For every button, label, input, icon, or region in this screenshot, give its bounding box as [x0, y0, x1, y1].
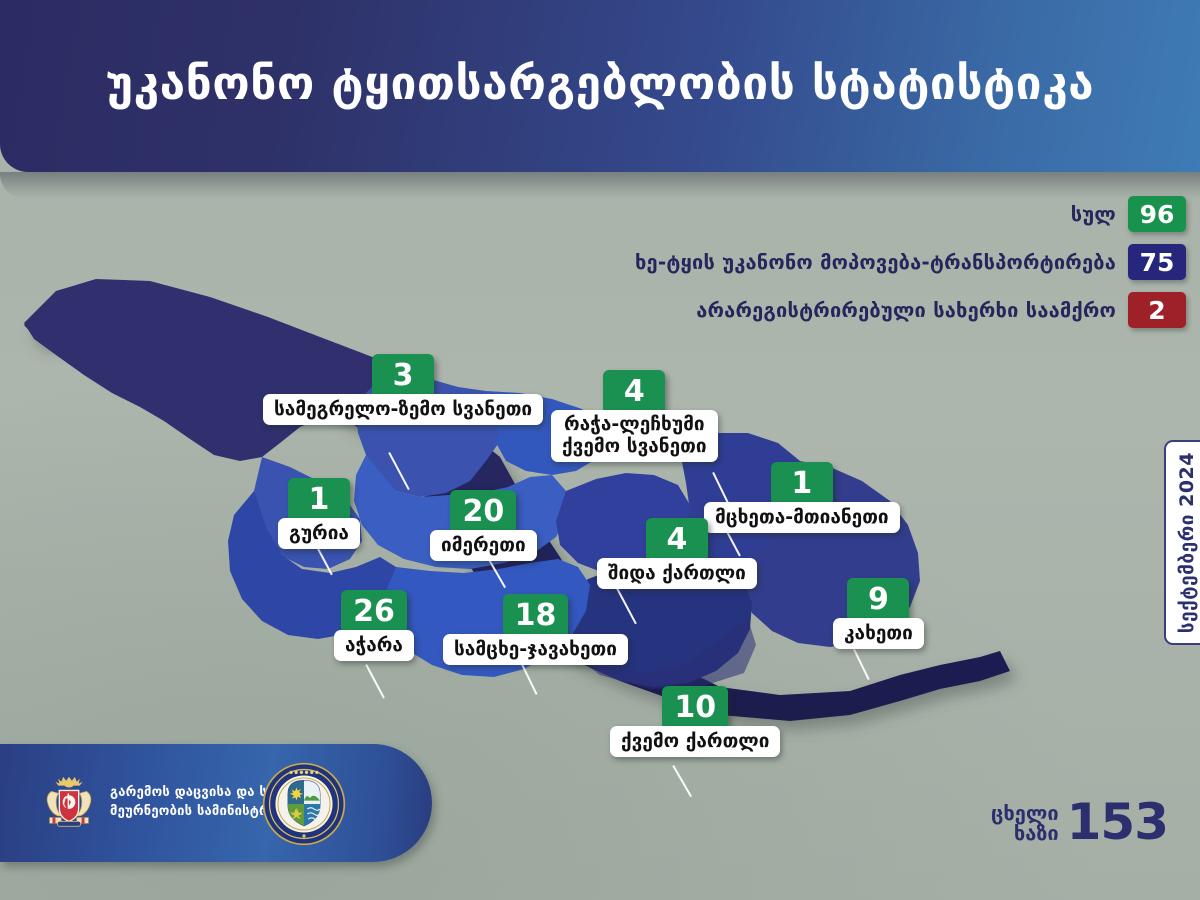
callout-label: შიდა ქართლი — [597, 558, 757, 589]
callout-value: 4 — [646, 518, 708, 562]
hotline-label-line1: ცხელი — [991, 803, 1059, 823]
callout-adjara[interactable]: 26 აჭარა — [334, 590, 414, 661]
georgia-coat-of-arms-icon — [38, 772, 100, 834]
callout-value: 1 — [288, 478, 350, 522]
hotline: ცხელი ხაზი 153 — [991, 800, 1168, 845]
callout-samegrelo-zemo-svaneti[interactable]: 3 სამეგრელო-ზემო სვანეთი — [263, 354, 543, 425]
date-badge-text: სექტემბერი 2024 — [1176, 452, 1198, 633]
date-badge: სექტემბერი 2024 — [1164, 440, 1200, 645]
callout-racha-lechkhumi[interactable]: 4 რაჭა-ლეჩხუმი ქვემო სვანეთი — [551, 370, 718, 462]
legend-chip-transport: 75 — [1128, 244, 1186, 280]
callout-label-line2: ქვემო სვანეთი — [562, 435, 707, 457]
callout-label: სამეგრელო-ზემო სვანეთი — [263, 394, 543, 425]
legend-label: ხე-ტყის უკანონო მოპოვება-ტრანსპორტირება — [635, 250, 1116, 274]
callout-label: გურია — [278, 518, 360, 549]
callout-label: იმერეთი — [430, 530, 537, 561]
hotline-label-line2: ხაზი — [991, 823, 1059, 843]
hotline-label: ცხელი ხაზი — [991, 803, 1059, 843]
callout-value: 20 — [450, 490, 516, 534]
callout-guria[interactable]: 1 გურია — [278, 478, 360, 549]
callout-imereti[interactable]: 20 იმერეთი — [430, 490, 537, 561]
callout-samtskhe-javakheti[interactable]: 18 სამცხე-ჯავახეთი — [443, 594, 628, 665]
legend-chip-total: 96 — [1128, 196, 1186, 232]
callout-kakheti[interactable]: 9 კახეთი — [833, 578, 924, 649]
page-title: უკანონო ტყითსარგებლობის სტატისტიკა — [106, 56, 1094, 116]
legend-label: არარეგისტრირებული სახერხი საამქრო — [696, 298, 1116, 322]
infographic-stage: 3 სამეგრელო-ზემო სვანეთი 4 რაჭა-ლეჩხუმი … — [0, 0, 1200, 900]
callout-shida-kartli[interactable]: 4 შიდა ქართლი — [597, 518, 757, 589]
legend-row-transport: ხე-ტყის უკანონო მოპოვება-ტრანსპორტირება … — [635, 244, 1186, 280]
callout-value: 26 — [341, 590, 407, 634]
header-banner: უკანონო ტყითსარგებლობის სტატისტიკა — [0, 0, 1200, 172]
legend-chip-sawmill: 2 — [1128, 292, 1186, 328]
callout-label: ქვემო ქართლი — [610, 726, 780, 757]
callout-label: კახეთი — [833, 618, 924, 649]
legend-row-total: სულ 96 — [635, 196, 1186, 232]
legend: სულ 96 ხე-ტყის უკანონო მოპოვება-ტრანსპორ… — [635, 196, 1186, 340]
callout-value: 18 — [503, 594, 569, 638]
callout-label-line1: რაჭა-ლეჩხუმი — [564, 413, 705, 435]
callout-value: 1 — [771, 462, 833, 506]
legend-row-sawmill: არარეგისტრირებული სახერხი საამქრო 2 — [635, 292, 1186, 328]
callout-value: 3 — [372, 354, 434, 398]
callout-value: 10 — [662, 686, 728, 730]
callout-label: აჭარა — [334, 630, 414, 661]
hotline-number: 153 — [1067, 800, 1168, 845]
footer-bar: გარემოს დაცვისა და სოფლის მეურნეობის სამ… — [0, 744, 432, 862]
legend-label: სულ — [1071, 202, 1116, 226]
callout-value: 4 — [603, 370, 665, 414]
emblem-ring-text: ● ● ● ● ● ● — [289, 771, 319, 776]
ministry-emblem-icon: ● ● ● ● ● ● — [262, 762, 346, 846]
callout-label: სამცხე-ჯავახეთი — [443, 634, 628, 665]
callout-label: რაჭა-ლეჩხუმი ქვემო სვანეთი — [551, 410, 718, 462]
callout-kvemo-kartli[interactable]: 10 ქვემო ქართლი — [610, 686, 780, 757]
callout-value: 9 — [847, 578, 909, 622]
